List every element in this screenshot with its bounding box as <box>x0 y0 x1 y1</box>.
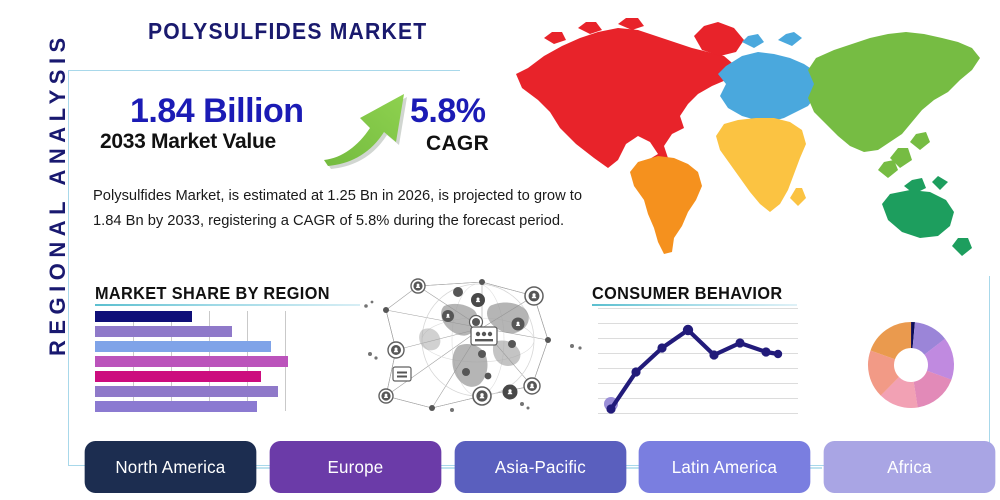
region-button-latin-america[interactable]: Latin America <box>639 441 810 493</box>
market-share-heading: MARKET SHARE BY REGION <box>95 283 330 304</box>
consumer-behavior-heading: CONSUMER BEHAVIOR <box>592 283 782 304</box>
cagr-label: CAGR <box>426 132 489 156</box>
kpi-row: 1.84 Billion 2033 Market Value 5.8% CAGR <box>92 92 512 164</box>
growth-arrow-icon <box>320 84 420 169</box>
market-distribution-donut-chart <box>856 310 966 420</box>
table-row <box>95 386 278 397</box>
region-button-label: Latin America <box>672 457 777 478</box>
consumer-behavior-underline <box>592 304 797 306</box>
consumer-behavior-line-chart <box>598 308 798 416</box>
market-share-underline <box>95 304 360 306</box>
table-row <box>95 341 271 352</box>
region-button-label: Africa <box>887 457 932 478</box>
world-map-icon <box>498 8 994 270</box>
market-value-figure: 1.84 Billion <box>130 92 304 131</box>
market-value-label: 2033 Market Value <box>100 130 276 154</box>
table-row <box>95 311 192 322</box>
region-button-north-america[interactable]: North America <box>85 441 256 493</box>
table-row <box>95 326 232 337</box>
page-title: POLYSULFIDES MARKET <box>148 18 427 45</box>
global-network-icon <box>362 268 590 420</box>
region-button-africa[interactable]: Africa <box>824 441 995 493</box>
region-button-label: Asia-Pacific <box>494 457 585 478</box>
region-button-label: Europe <box>327 457 383 478</box>
table-row <box>95 356 288 367</box>
market-share-bar-chart <box>95 311 288 411</box>
cagr-figure: 5.8% <box>410 92 486 131</box>
infographic-root: REGIONAL ANALYSIS POLYSULFIDES MARKET 1.… <box>0 0 1000 500</box>
region-button-asia-pacific[interactable]: Asia-Pacific <box>454 441 625 493</box>
table-row <box>95 401 257 412</box>
region-button-group: North America Europe Asia-Pacific Latin … <box>82 441 998 493</box>
region-button-label: North America <box>115 457 225 478</box>
table-row <box>95 371 261 382</box>
region-button-europe[interactable]: Europe <box>269 441 440 493</box>
vertical-section-label: REGIONAL ANALYSIS <box>45 56 71 356</box>
